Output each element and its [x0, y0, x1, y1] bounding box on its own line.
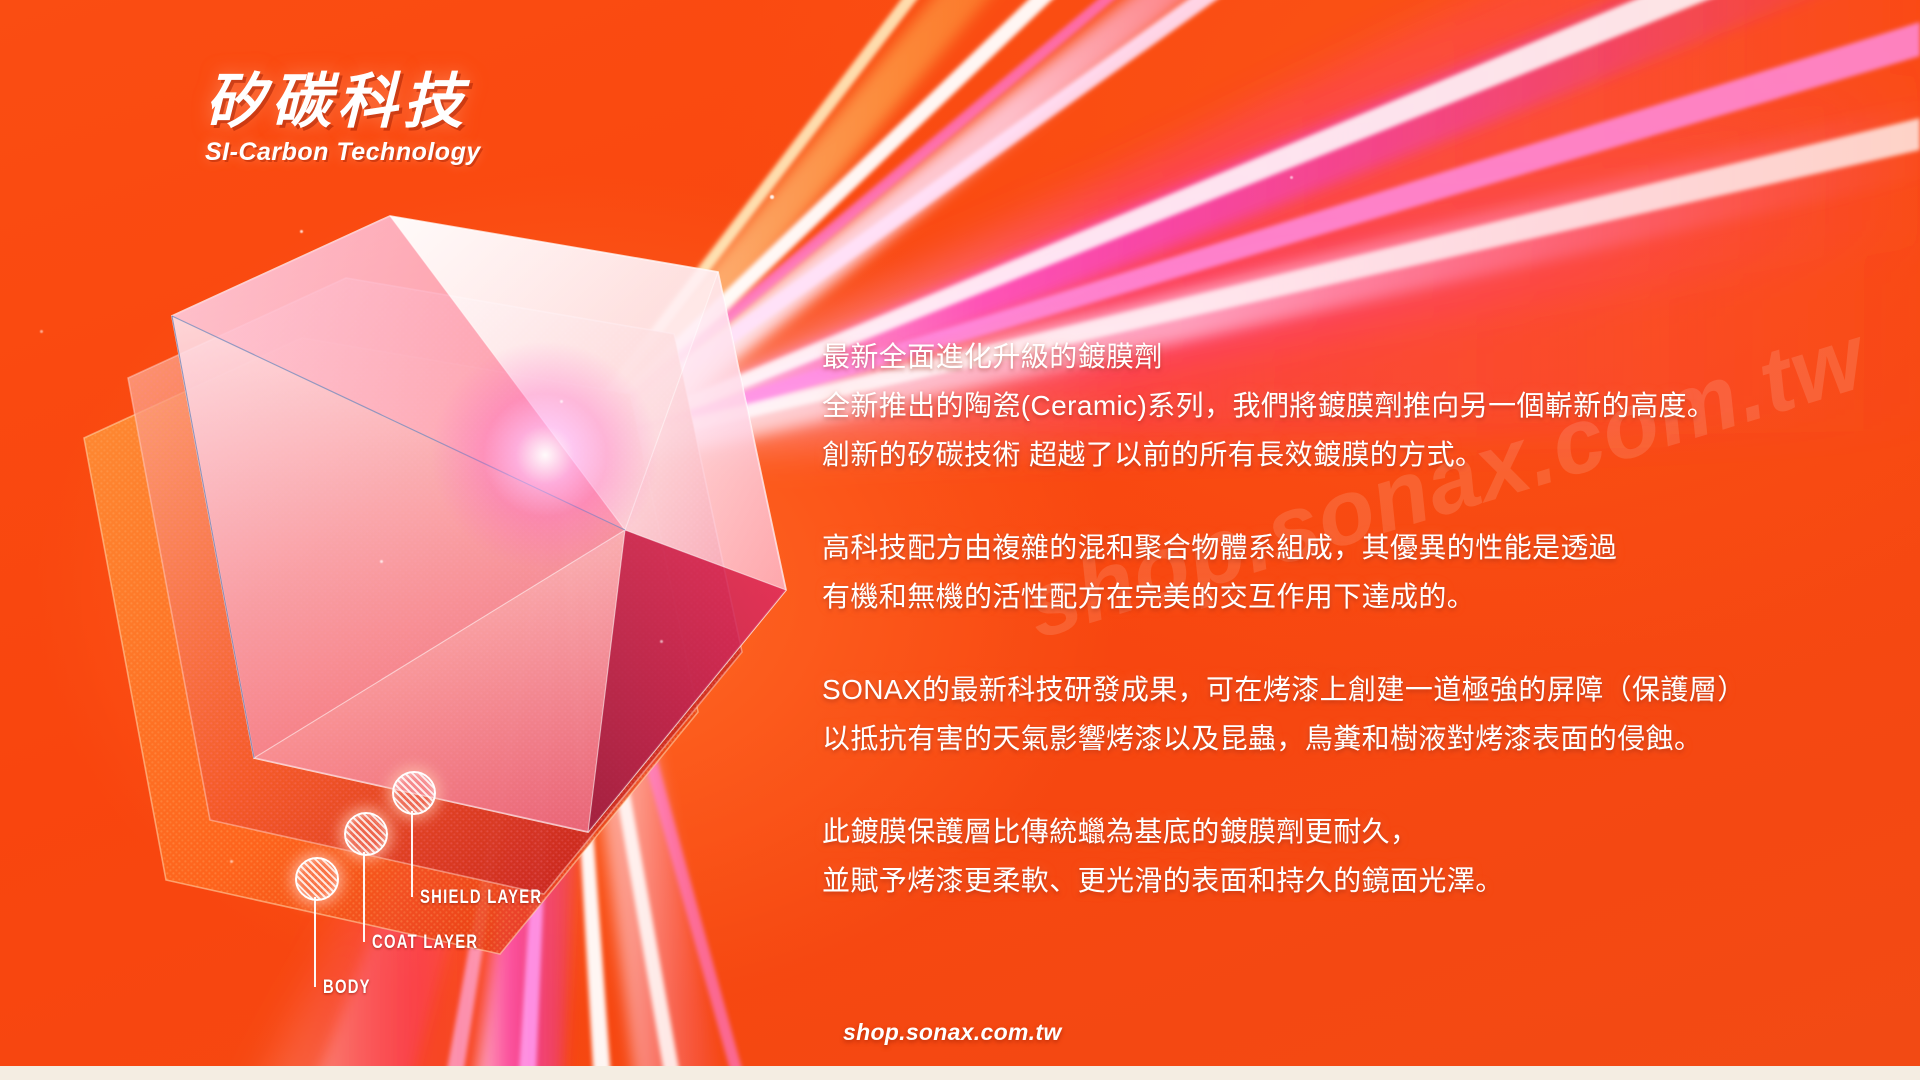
layer-shield [172, 216, 786, 832]
page-subtitle: SI-Carbon Technology [205, 138, 481, 167]
copy-line: 高科技配方由複雜的混和聚合物體系組成，其優異的性能是透過 [822, 534, 1882, 583]
copy-paragraph: 此鍍膜保護層比傳統蠟為基底的鍍膜劑更耐久， 並賦予烤漆更柔軟、更光滑的表面和持久… [822, 818, 1882, 916]
sparkle [770, 195, 774, 199]
callout-marker-shield-icon [392, 771, 436, 815]
copy-line: 創新的矽碳技術 超越了以前的所有長效鍍膜的方式。 [822, 441, 1882, 490]
sparkle [300, 230, 303, 233]
callout-label-shield: SHIELD LAYER [420, 887, 542, 909]
callout-marker-coat-icon [344, 812, 388, 856]
leader-line-body [314, 897, 316, 987]
sparkle [380, 560, 383, 563]
leader-line-shield [411, 811, 413, 897]
copy-line: SONAX的最新科技研發成果，可在烤漆上創建一道極強的屏障（保護層） [822, 676, 1882, 725]
paragraph-gap [822, 490, 1882, 534]
copy-line: 有機和無機的活性配方在完美的交互作用下達成的。 [822, 583, 1882, 632]
leader-line-coat [363, 852, 365, 942]
copy-line: 以抵抗有害的天氣影響烤漆以及昆蟲，鳥糞和樹液對烤漆表面的侵蝕。 [822, 725, 1882, 774]
copy-line: 此鍍膜保護層比傳統蠟為基底的鍍膜劑更耐久， [822, 818, 1882, 867]
copy-paragraph: SONAX的最新科技研發成果，可在烤漆上創建一道極強的屏障（保護層） 以抵抗有害… [822, 676, 1882, 774]
callout-marker-body-icon [295, 857, 339, 901]
callout-label-coat: COAT LAYER [372, 932, 478, 954]
sparkle [1290, 176, 1293, 179]
title-block: 矽碳科技 SI-Carbon Technology [205, 72, 481, 167]
sparkle [40, 330, 43, 333]
sparkle [660, 640, 663, 643]
paragraph-gap [822, 774, 1882, 818]
copy-paragraph: 最新全面進化升級的鍍膜劑 全新推出的陶瓷(Ceramic)系列，我們將鍍膜劑推向… [822, 343, 1882, 490]
sparkle [560, 400, 563, 403]
promo-banner: shop.sonax.com.tw 矽碳科技 SI-Carbon Technol… [0, 0, 1920, 1080]
shop-url[interactable]: shop.sonax.com.tw [843, 1019, 1062, 1046]
page-title: 矽碳科技 [205, 72, 481, 132]
bottom-bar [0, 1066, 1920, 1080]
copy-line: 全新推出的陶瓷(Ceramic)系列，我們將鍍膜劑推向另一個嶄新的高度。 [822, 392, 1882, 441]
copy-paragraph: 高科技配方由複雜的混和聚合物體系組成，其優異的性能是透過 有機和無機的活性配方在… [822, 534, 1882, 632]
copy-line: 並賦予烤漆更柔軟、更光滑的表面和持久的鏡面光澤。 [822, 867, 1882, 916]
marketing-copy: 最新全面進化升級的鍍膜劑 全新推出的陶瓷(Ceramic)系列，我們將鍍膜劑推向… [822, 343, 1882, 916]
copy-line: 最新全面進化升級的鍍膜劑 [822, 343, 1882, 392]
paragraph-gap [822, 632, 1882, 676]
callout-label-body: BODY [323, 977, 371, 999]
sparkle [230, 860, 233, 863]
